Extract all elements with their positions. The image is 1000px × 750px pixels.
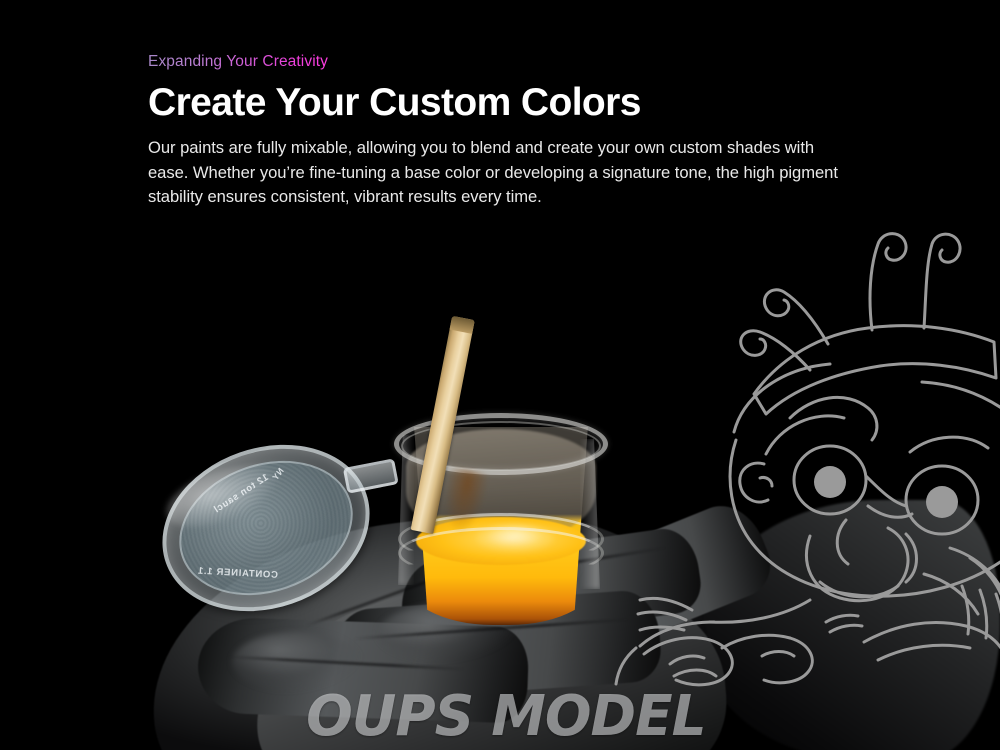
body-paragraph: Our paints are fully mixable, allowing y… [148, 136, 850, 210]
page-title: Create Your Custom Colors [148, 80, 860, 125]
lid-tab [343, 458, 399, 493]
hero-text-block: Expanding Your Creativity Create Your Cu… [148, 52, 860, 210]
eyebrow-label: Expanding Your Creativity [148, 52, 328, 71]
mascot-outline-icon [614, 218, 1000, 688]
hair-wisp [511, 315, 576, 349]
stir-stick-tip [450, 316, 475, 334]
hair-wisp [489, 252, 530, 303]
watermark-oups-model: OUPS MODEL [306, 684, 706, 749]
slide-canvas: 12 ton saucl CONTAINER 1.1 NY [0, 0, 1000, 750]
mascot-outline-overlay [614, 218, 1000, 688]
